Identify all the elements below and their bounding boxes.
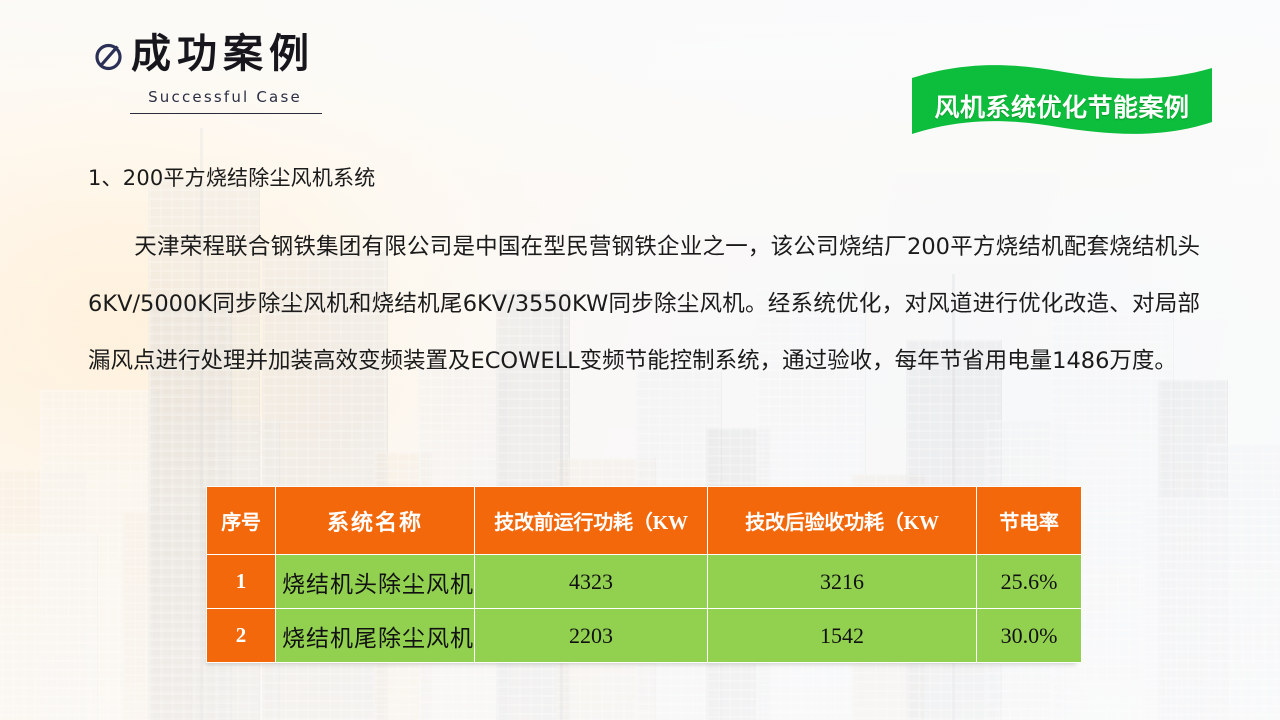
table-header-row: 序号 系统名称 技改前运行功耗（KW 技改后验收功耗（KW 节电率 (207, 487, 1081, 554)
body-copy: 1、200平方烧结除尘风机系统 天津荣程联合钢铁集团有限公司是中国在型民营钢铁企… (88, 168, 1200, 390)
slash-circle-icon (92, 40, 125, 73)
ribbon-banner: 风机系统优化节能案例 (908, 62, 1216, 142)
column-header-power-before: 技改前运行功耗（KW (475, 487, 707, 554)
results-table: 序号 系统名称 技改前运行功耗（KW 技改后验收功耗（KW 节电率 1 烧结机头… (206, 486, 1082, 663)
cell-system-name: 烧结机头除尘风机 (276, 555, 474, 608)
section-title: 200平方烧结除尘风机系统 (123, 166, 376, 190)
ribbon-label: 风机系统优化节能案例 (908, 88, 1216, 124)
heading-underline (130, 113, 322, 114)
table-row: 2 烧结机尾除尘风机 2203 1542 30.0% (207, 609, 1081, 662)
cell-power-after: 3216 (708, 555, 976, 608)
column-header-index: 序号 (207, 487, 275, 554)
page-subtitle: Successful Case (130, 88, 320, 106)
section-number: 1、 (88, 166, 123, 190)
page-title: 成功案例 (131, 34, 315, 74)
cell-index: 1 (207, 555, 275, 608)
cell-power-after: 1542 (708, 609, 976, 662)
cell-power-before: 4323 (475, 555, 707, 608)
slide-canvas: 成功案例 Successful Case 风机系统优化节能案例 1、200平方烧… (0, 0, 1280, 720)
results-table-wrapper: 序号 系统名称 技改前运行功耗（KW 技改后验收功耗（KW 节电率 1 烧结机头… (206, 486, 1076, 663)
page-heading: 成功案例 Successful Case (92, 34, 320, 114)
column-header-power-after: 技改后验收功耗（KW (708, 487, 976, 554)
cell-saving-rate: 30.0% (977, 609, 1081, 662)
section-heading-line: 1、200平方烧结除尘风机系统 (88, 168, 1200, 189)
column-header-system-name: 系统名称 (276, 487, 474, 554)
section-paragraph-wrap: 天津荣程联合钢铁集团有限公司是中国在型民营钢铁企业之一，该公司烧结厂200平方烧… (88, 219, 1200, 390)
table-row: 1 烧结机头除尘风机 4323 3216 25.6% (207, 555, 1081, 608)
cell-system-name: 烧结机尾除尘风机 (276, 609, 474, 662)
section-paragraph: 天津荣程联合钢铁集团有限公司是中国在型民营钢铁企业之一，该公司烧结厂200平方烧… (88, 234, 1200, 374)
cell-power-before: 2203 (475, 609, 707, 662)
column-header-saving-rate: 节电率 (977, 487, 1081, 554)
cell-saving-rate: 25.6% (977, 555, 1081, 608)
cell-index: 2 (207, 609, 275, 662)
